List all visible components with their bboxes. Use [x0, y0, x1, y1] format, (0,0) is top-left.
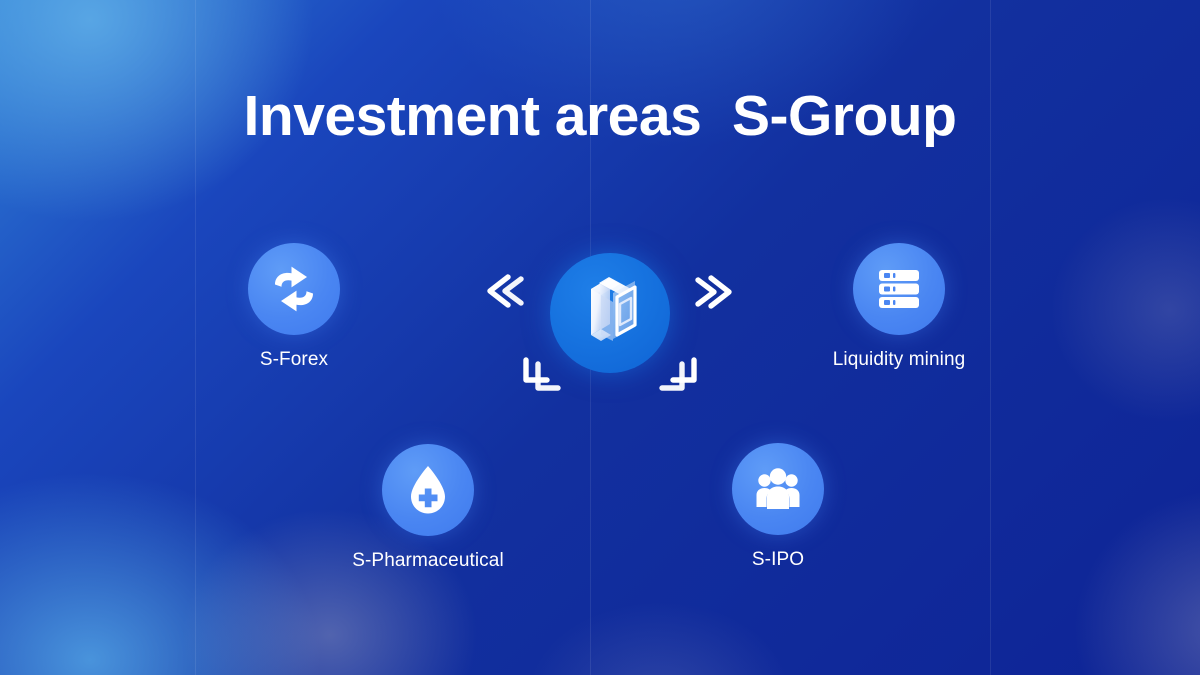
chevron-double-down-right-icon: [656, 354, 704, 402]
droplet-cross-icon: [405, 464, 451, 516]
people-group-icon: [753, 467, 803, 511]
haze-mid-right: [1000, 150, 1200, 470]
investment-area-liquidity-mining[interactable]: Liquidity mining: [799, 243, 999, 371]
investment-area-pharmaceutical[interactable]: S-Pharmaceutical: [328, 444, 528, 572]
ipo-label: S-IPO: [678, 549, 878, 571]
chevron-double-down-left-icon: [516, 354, 564, 402]
pharmaceutical-label: S-Pharmaceutical: [328, 550, 528, 572]
haze-bottom-center: [470, 560, 850, 675]
poster-canvas: Investment areas S-Group: [0, 0, 1200, 675]
liquidity-icon-bubble[interactable]: [853, 243, 945, 335]
liquidity-label: Liquidity mining: [799, 349, 999, 371]
investment-area-ipo[interactable]: S-IPO: [678, 443, 878, 571]
chevron-double-left-icon: [482, 269, 526, 313]
investment-area-forex[interactable]: S-Forex: [194, 243, 394, 371]
server-stack-icon: [875, 265, 923, 313]
forex-label: S-Forex: [194, 349, 394, 371]
chevron-double-right-icon: [692, 270, 736, 314]
ipo-icon-bubble[interactable]: [732, 443, 824, 535]
center-hub-logo: [550, 253, 670, 373]
s-group-cube-logo-icon: [573, 273, 647, 353]
pharmaceutical-icon-bubble[interactable]: [382, 444, 474, 536]
swap-arrows-icon: [269, 264, 319, 314]
page-title: Investment areas S-Group: [0, 88, 1200, 145]
forex-icon-bubble[interactable]: [248, 243, 340, 335]
haze-bottom-right: [1010, 430, 1200, 675]
